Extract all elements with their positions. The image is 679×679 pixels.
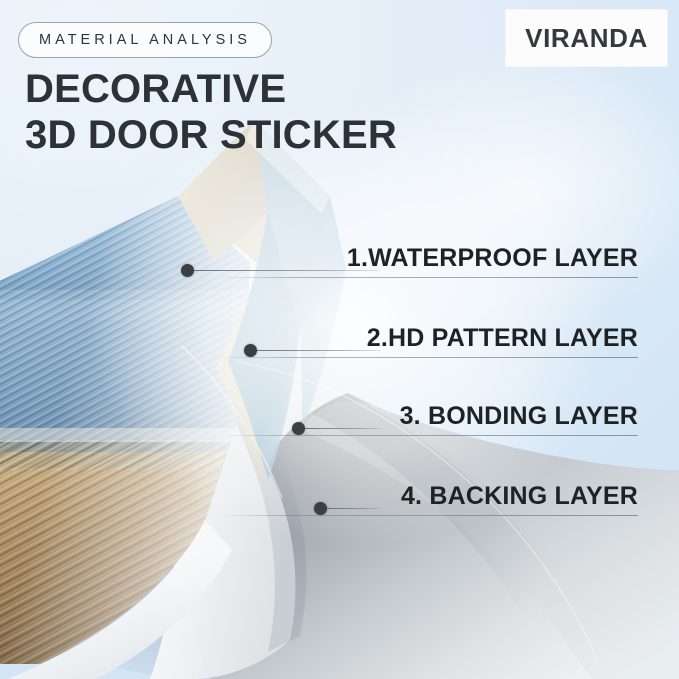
page-title: DECORATIVE 3D DOOR STICKER: [25, 66, 397, 158]
callout-label-2: 2.HD PATTERN LAYER: [218, 324, 638, 353]
callout-rule-4: [218, 515, 638, 516]
brand-name: VIRANDA: [525, 23, 648, 54]
infographic-canvas: MATERIAL ANALYSIS DECORATIVE 3D DOOR STI…: [0, 0, 679, 679]
callout-label-3: 3. BONDING LAYER: [218, 402, 638, 431]
callout-rule-1: [218, 277, 638, 278]
title-line-1: DECORATIVE: [25, 67, 286, 111]
material-analysis-badge: MATERIAL ANALYSIS: [18, 22, 272, 58]
callout-label-4: 4. BACKING LAYER: [218, 482, 638, 511]
callout-rule-3: [218, 435, 638, 436]
callout-label-1: 1.WATERPROOF LAYER: [218, 244, 638, 273]
brand-logo: VIRANDA: [506, 10, 667, 66]
callout-1[interactable]: 1.WATERPROOF LAYER: [218, 244, 638, 278]
callout-dot-1[interactable]: [181, 264, 194, 277]
callout-3[interactable]: 3. BONDING LAYER: [218, 402, 638, 436]
badge-label: MATERIAL ANALYSIS: [39, 32, 251, 48]
callout-2[interactable]: 2.HD PATTERN LAYER: [218, 324, 638, 358]
callout-rule-2: [218, 357, 638, 358]
callout-4[interactable]: 4. BACKING LAYER: [218, 482, 638, 516]
title-line-2: 3D DOOR STICKER: [25, 112, 397, 158]
